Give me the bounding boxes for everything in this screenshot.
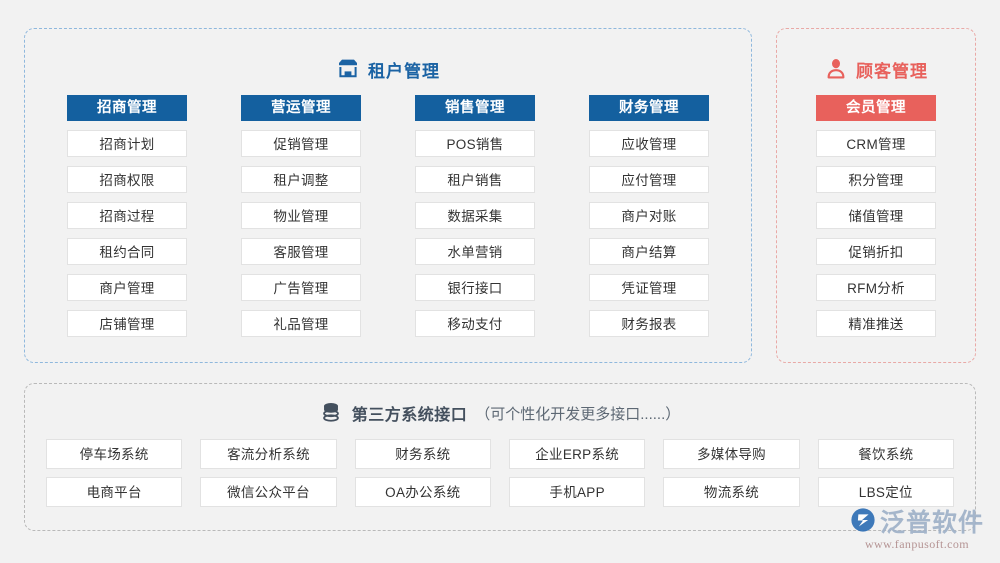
interface-item[interactable]: 餐饮系统 xyxy=(818,439,954,469)
tenant-management-panel: 租户管理 招商管理 招商计划 招商权限 招商过程 租约合同 商户管理 店铺管理 … xyxy=(24,28,752,363)
interface-item[interactable]: 多媒体导购 xyxy=(663,439,799,469)
menu-item[interactable]: CRM管理 xyxy=(816,130,936,157)
menu-item[interactable]: 客服管理 xyxy=(241,238,361,265)
top-panels-row: 租户管理 招商管理 招商计划 招商权限 招商过程 租约合同 商户管理 店铺管理 … xyxy=(0,0,1000,372)
column-header[interactable]: 财务管理 xyxy=(589,95,709,121)
menu-item[interactable]: 促销管理 xyxy=(241,130,361,157)
watermark-url: www.fanpusoft.com xyxy=(842,537,992,552)
tenant-panel-title: 租户管理 xyxy=(25,52,751,86)
interface-item[interactable]: 企业ERP系统 xyxy=(509,439,645,469)
third-party-note: （可个性化开发更多接口......） xyxy=(475,403,680,424)
watermark-brand: 泛普软件 xyxy=(880,508,984,538)
tenant-columns: 招商管理 招商计划 招商权限 招商过程 租约合同 商户管理 店铺管理 营运管理 … xyxy=(25,95,751,337)
third-party-interface-panel: 第三方系统接口 （可个性化开发更多接口......） 停车场系统 客流分析系统 … xyxy=(24,383,976,531)
menu-item[interactable]: 商户管理 xyxy=(67,274,187,301)
third-party-items-grid: 停车场系统 客流分析系统 财务系统 企业ERP系统 多媒体导购 餐饮系统 电商平… xyxy=(46,439,954,507)
column-investment: 招商管理 招商计划 招商权限 招商过程 租约合同 商户管理 店铺管理 xyxy=(67,95,187,337)
menu-item[interactable]: 商户结算 xyxy=(589,238,709,265)
menu-item[interactable]: 礼品管理 xyxy=(241,310,361,337)
column-header[interactable]: 营运管理 xyxy=(241,95,361,121)
column-sales: 销售管理 POS销售 租户销售 数据采集 水单营销 银行接口 移动支付 xyxy=(415,95,535,337)
column-membership: 会员管理 CRM管理 积分管理 储值管理 促销折扣 RFM分析 精准推送 xyxy=(816,95,936,337)
watermark-brand-row: 泛普软件 xyxy=(842,507,992,538)
third-party-title-text: 第三方系统接口 xyxy=(352,401,468,425)
menu-item[interactable]: 商户对账 xyxy=(589,202,709,229)
interface-item[interactable]: LBS定位 xyxy=(818,477,954,507)
interface-item[interactable]: OA办公系统 xyxy=(355,477,491,507)
interface-item[interactable]: 停车场系统 xyxy=(46,439,182,469)
menu-item[interactable]: 广告管理 xyxy=(241,274,361,301)
menu-item[interactable]: 积分管理 xyxy=(816,166,936,193)
user-icon xyxy=(824,57,848,81)
column-header[interactable]: 招商管理 xyxy=(67,95,187,121)
menu-item[interactable]: 促销折扣 xyxy=(816,238,936,265)
menu-item[interactable]: POS销售 xyxy=(415,130,535,157)
diagram-canvas: 租户管理 招商管理 招商计划 招商权限 招商过程 租约合同 商户管理 店铺管理 … xyxy=(0,0,1000,563)
watermark: 泛普软件 www.fanpusoft.com xyxy=(842,507,992,557)
menu-item[interactable]: 数据采集 xyxy=(415,202,535,229)
column-finance: 财务管理 应收管理 应付管理 商户对账 商户结算 凭证管理 财务报表 xyxy=(589,95,709,337)
column-header[interactable]: 销售管理 xyxy=(415,95,535,121)
third-party-title: 第三方系统接口 （可个性化开发更多接口......） xyxy=(25,401,975,425)
interface-item[interactable]: 手机APP xyxy=(509,477,645,507)
menu-item[interactable]: 凭证管理 xyxy=(589,274,709,301)
customer-columns: 会员管理 CRM管理 积分管理 储值管理 促销折扣 RFM分析 精准推送 xyxy=(777,95,975,337)
menu-item[interactable]: 店铺管理 xyxy=(67,310,187,337)
menu-item[interactable]: 财务报表 xyxy=(589,310,709,337)
interface-item[interactable]: 客流分析系统 xyxy=(200,439,336,469)
menu-item[interactable]: 租约合同 xyxy=(67,238,187,265)
interface-item[interactable]: 微信公众平台 xyxy=(200,477,336,507)
menu-item[interactable]: 储值管理 xyxy=(816,202,936,229)
menu-item[interactable]: 招商权限 xyxy=(67,166,187,193)
menu-item[interactable]: 移动支付 xyxy=(415,310,535,337)
menu-item[interactable]: 租户销售 xyxy=(415,166,535,193)
shop-awning-icon xyxy=(336,57,360,81)
column-header[interactable]: 会员管理 xyxy=(816,95,936,121)
customer-panel-title: 顾客管理 xyxy=(777,52,975,86)
menu-item[interactable]: 应付管理 xyxy=(589,166,709,193)
tenant-panel-title-text: 租户管理 xyxy=(368,57,440,82)
interface-item[interactable]: 电商平台 xyxy=(46,477,182,507)
menu-item[interactable]: 银行接口 xyxy=(415,274,535,301)
menu-item[interactable]: 物业管理 xyxy=(241,202,361,229)
menu-item[interactable]: 租户调整 xyxy=(241,166,361,193)
column-operations: 营运管理 促销管理 租户调整 物业管理 客服管理 广告管理 礼品管理 xyxy=(241,95,361,337)
menu-item[interactable]: 招商计划 xyxy=(67,130,187,157)
menu-item[interactable]: 精准推送 xyxy=(816,310,936,337)
menu-item[interactable]: 应收管理 xyxy=(589,130,709,157)
interface-item[interactable]: 财务系统 xyxy=(355,439,491,469)
menu-item[interactable]: 水单营销 xyxy=(415,238,535,265)
customer-panel-title-text: 顾客管理 xyxy=(856,57,928,82)
database-icon xyxy=(320,401,344,425)
menu-item[interactable]: RFM分析 xyxy=(816,274,936,301)
menu-item[interactable]: 招商过程 xyxy=(67,202,187,229)
interface-item[interactable]: 物流系统 xyxy=(663,477,799,507)
fanpu-logo-icon xyxy=(850,507,876,538)
customer-management-panel: 顾客管理 会员管理 CRM管理 积分管理 储值管理 促销折扣 RFM分析 精准推… xyxy=(776,28,976,363)
